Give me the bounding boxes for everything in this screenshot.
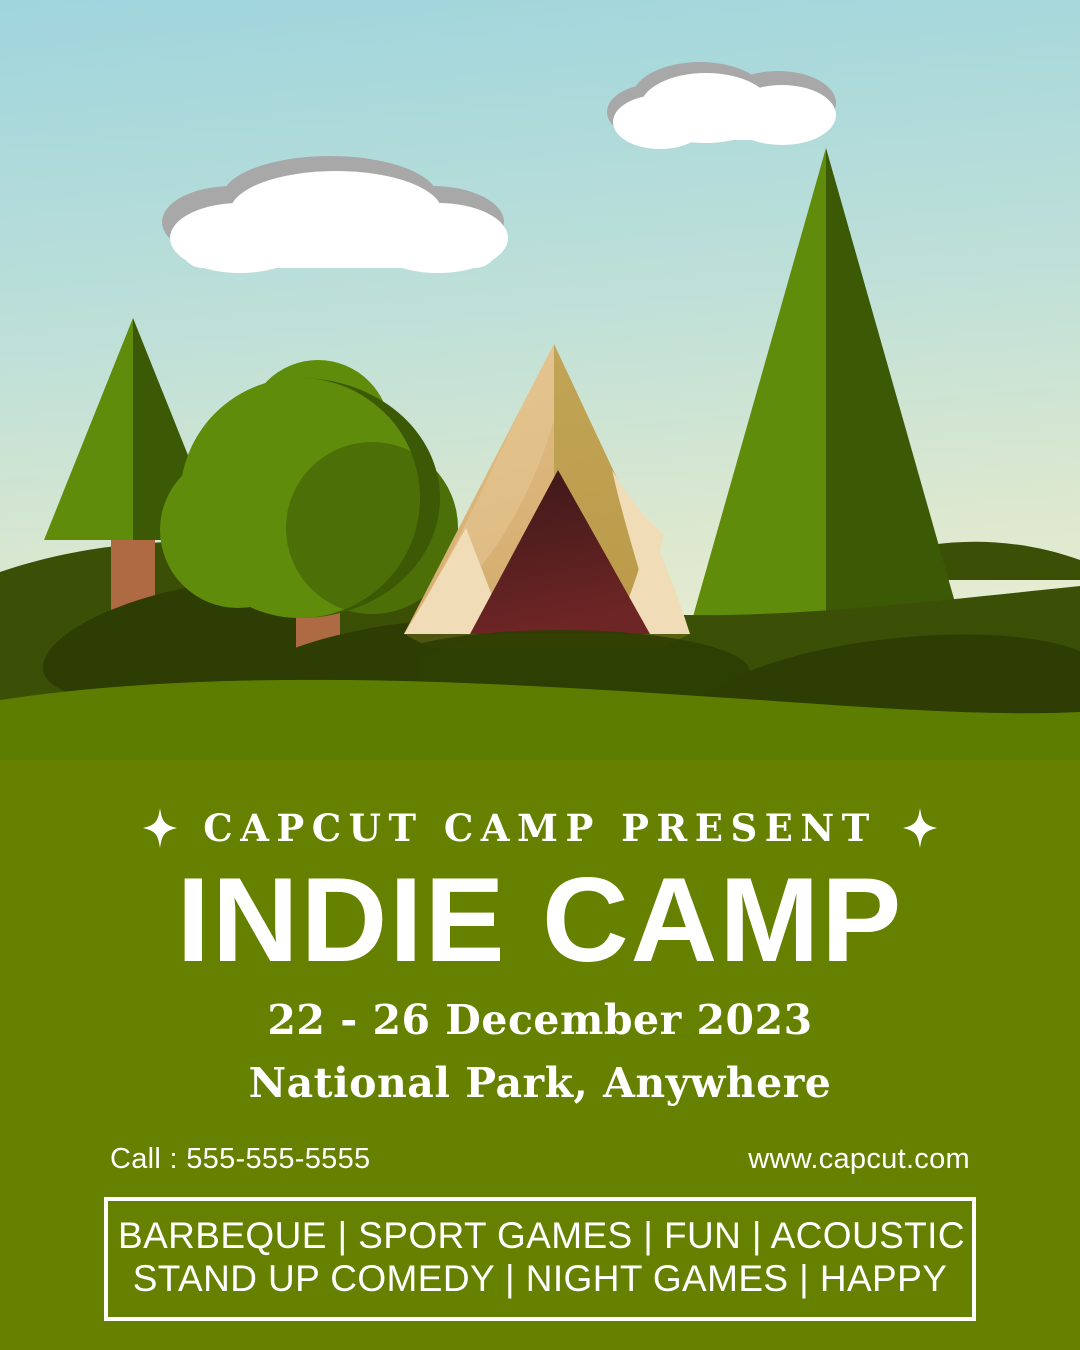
contact-row: Call : 555-555-5555 www.capcut.com	[110, 1145, 970, 1174]
activities-line-2: STAND UP COMEDY | NIGHT GAMES | HAPPY	[118, 1258, 962, 1301]
camp-illustration	[0, 0, 1080, 780]
presenter-row: CAPCUT CAMP PRESENT	[0, 808, 1080, 848]
sparkle-icon	[903, 808, 937, 848]
phone-number[interactable]: Call : 555-555-5555	[110, 1145, 370, 1174]
activities-line-1: BARBEQUE | SPORT GAMES | FUN | ACOUSTIC	[118, 1215, 962, 1258]
page-title: INDIE CAMP	[0, 856, 1080, 986]
poster-text-panel: CAPCUT CAMP PRESENT INDIE CAMP 22 - 26 D…	[0, 760, 1080, 1350]
activities-box: BARBEQUE | SPORT GAMES | FUN | ACOUSTIC …	[104, 1197, 976, 1321]
event-location: National Park, Anywhere	[0, 1063, 1080, 1104]
website-url[interactable]: www.capcut.com	[748, 1145, 970, 1174]
event-date: 22 - 26 December 2023	[0, 1000, 1080, 1041]
camp-event-poster: CAPCUT CAMP PRESENT INDIE CAMP 22 - 26 D…	[0, 0, 1080, 1350]
sparkle-icon	[143, 808, 177, 848]
presenter-label: CAPCUT CAMP PRESENT	[203, 810, 876, 847]
